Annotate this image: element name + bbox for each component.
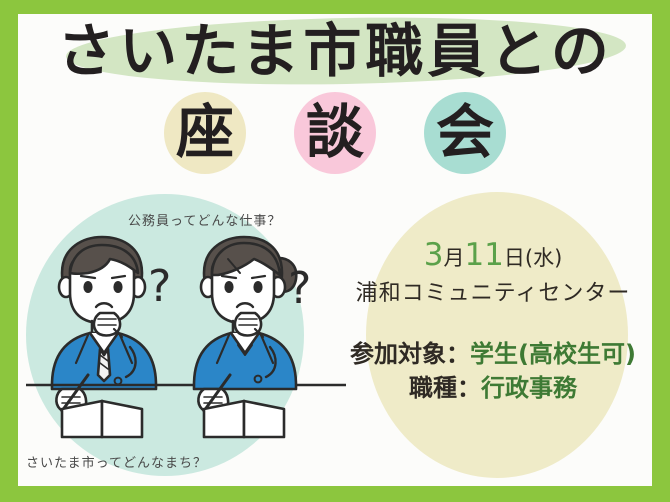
title-circle-kai: 会 — [424, 92, 506, 174]
svg-text:?: ? — [148, 261, 171, 312]
event-details: 3月11日(水) 浦和コミュニティセンター 参加対象：学生(高校生可) 職種：行… — [328, 236, 652, 405]
title-circle-za: 座 — [164, 92, 246, 174]
event-date: 3月11日(水) — [328, 236, 652, 277]
svg-text:?: ? — [288, 263, 311, 314]
title-circle-group: 座 談 会 — [18, 92, 652, 174]
event-weekday: (水) — [525, 246, 562, 270]
event-venue: 浦和コミュニティセンター — [328, 277, 652, 311]
event-poster: さいたま市職員との 座 談 会 公務員ってどんな仕事？ — [0, 0, 670, 502]
event-day-number: 11 — [464, 237, 503, 273]
event-job-value: 行政事務 — [481, 374, 577, 402]
event-job-label: 職種： — [409, 374, 481, 402]
event-target-label: 参加対象： — [350, 340, 470, 368]
event-month-number: 3 — [424, 237, 444, 273]
title-circle-dan-char: 談 — [306, 103, 364, 161]
event-month-unit: 月 — [443, 246, 464, 270]
event-day-unit: 日 — [504, 246, 525, 270]
students-illustration: ? — [26, 229, 346, 449]
title-circle-za-char: 座 — [176, 103, 234, 161]
title-circle-dan: 談 — [294, 92, 376, 174]
event-target-value: 学生(高校生可) — [470, 340, 636, 368]
event-target: 参加対象：学生(高校生可) — [328, 337, 652, 371]
poster-panel: さいたま市職員との 座 談 会 公務員ってどんな仕事？ — [18, 14, 652, 486]
details-spacer — [328, 311, 652, 337]
event-job: 職種：行政事務 — [328, 371, 652, 405]
poster-title: さいたま市職員との — [18, 16, 652, 86]
caption-bottom: さいたま市ってどんなまち？ — [26, 452, 286, 471]
title-circle-kai-char: 会 — [436, 103, 494, 161]
caption-top: 公務員ってどんな仕事？ — [128, 210, 368, 229]
